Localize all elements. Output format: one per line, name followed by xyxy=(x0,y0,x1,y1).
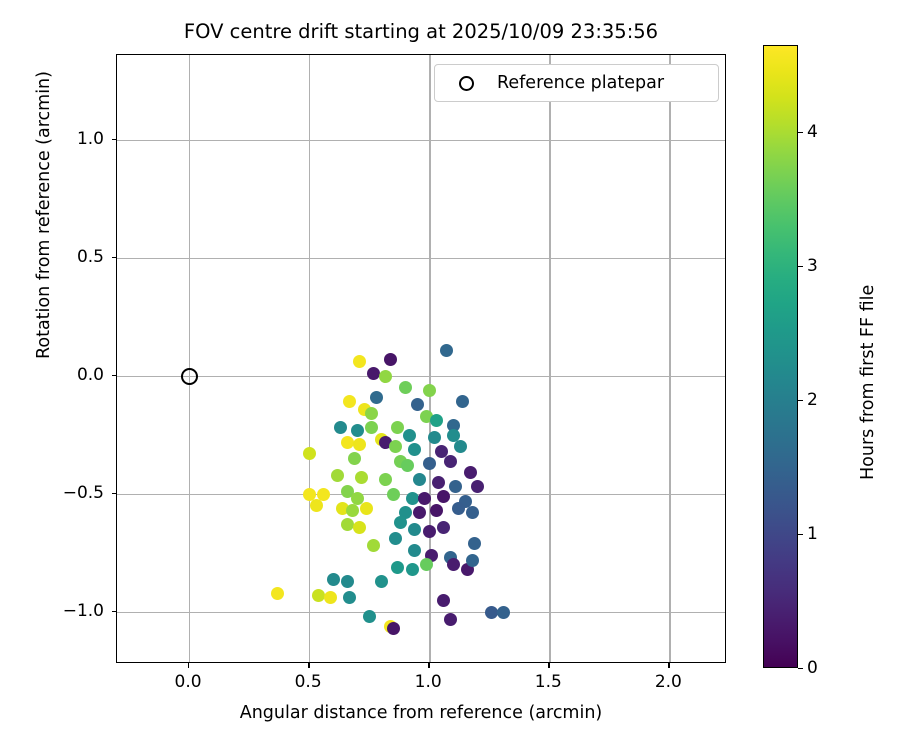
scatter-point xyxy=(351,424,364,437)
y-tick-mark-0 xyxy=(112,611,117,612)
x-axis-label: Angular distance from reference (arcmin) xyxy=(116,703,726,723)
gridline-vertical-0 xyxy=(189,55,190,662)
scatter-point xyxy=(401,459,414,472)
colorbar-tick-mark-1 xyxy=(798,534,803,535)
scatter-point xyxy=(454,440,467,453)
scatter-point xyxy=(387,488,400,501)
scatter-point xyxy=(437,521,450,534)
scatter-point xyxy=(346,504,359,517)
scatter-point xyxy=(271,587,284,600)
scatter-point xyxy=(430,504,443,517)
scatter-point xyxy=(341,436,354,449)
y-tick-mark-4 xyxy=(112,139,117,140)
scatter-point xyxy=(334,421,347,434)
scatter-point xyxy=(411,398,424,411)
scatter-point xyxy=(355,471,368,484)
x-tick-label-3: 1.5 xyxy=(535,672,562,692)
colorbar-tick-label-0: 0 xyxy=(807,658,818,678)
scatter-point xyxy=(423,525,436,538)
scatter-point xyxy=(375,575,388,588)
scatter-point xyxy=(406,563,419,576)
scatter-point xyxy=(444,613,457,626)
y-axis-label: Rotation from reference (arcmin) xyxy=(34,71,54,359)
y-tick-mark-1 xyxy=(112,493,117,494)
scatter-point xyxy=(468,537,481,550)
scatter-point xyxy=(365,421,378,434)
scatter-point xyxy=(423,457,436,470)
scatter-point xyxy=(348,452,361,465)
x-tick-label-1: 0.5 xyxy=(295,672,322,692)
y-tick-label-3: 0.5 xyxy=(77,247,104,267)
y-tick-label-0: −1.0 xyxy=(63,601,104,621)
y-tick-label-4: 1.0 xyxy=(77,129,104,149)
colorbar-tick-mark-0 xyxy=(798,668,803,669)
scatter-plot-axes xyxy=(116,54,726,663)
scatter-point xyxy=(389,440,402,453)
scatter-point xyxy=(387,622,400,635)
scatter-point xyxy=(403,429,416,442)
y-tick-mark-3 xyxy=(112,257,117,258)
scatter-point xyxy=(452,502,465,515)
scatter-point xyxy=(343,395,356,408)
scatter-point xyxy=(466,554,479,567)
gridline-horizontal-3 xyxy=(117,258,725,259)
colorbar xyxy=(763,45,798,668)
legend[interactable]: Reference platepar xyxy=(434,64,719,102)
colorbar-tick-mark-4 xyxy=(798,132,803,133)
colorbar-tick-mark-3 xyxy=(798,266,803,267)
scatter-point xyxy=(303,447,316,460)
scatter-point xyxy=(444,455,457,468)
scatter-point xyxy=(353,521,366,534)
scatter-point xyxy=(437,594,450,607)
open-circle-icon xyxy=(459,76,474,91)
scatter-point xyxy=(449,480,462,493)
scatter-point xyxy=(331,469,344,482)
scatter-point xyxy=(343,591,356,604)
x-tick-label-4: 2.0 xyxy=(655,672,682,692)
colorbar-tick-label-3: 3 xyxy=(807,256,818,276)
figure-canvas: FOV centre drift starting at 2025/10/09 … xyxy=(0,0,900,750)
scatter-point xyxy=(394,516,407,529)
scatter-point xyxy=(408,544,421,557)
scatter-point xyxy=(406,492,419,505)
scatter-point xyxy=(471,480,484,493)
gridline-horizontal-4 xyxy=(117,140,725,141)
scatter-point xyxy=(430,414,443,427)
legend-marker-wrap xyxy=(435,76,497,91)
x-tick-mark-4 xyxy=(668,663,669,668)
x-tick-mark-0 xyxy=(188,663,189,668)
scatter-point xyxy=(456,395,469,408)
scatter-point xyxy=(428,431,441,444)
scatter-point xyxy=(432,476,445,489)
gridline-vertical-1 xyxy=(309,55,310,662)
y-tick-mark-2 xyxy=(112,375,117,376)
colorbar-tick-mark-2 xyxy=(798,400,803,401)
gridline-horizontal-0 xyxy=(117,612,725,613)
scatter-point xyxy=(379,473,392,486)
scatter-point xyxy=(341,575,354,588)
scatter-point xyxy=(399,381,412,394)
scatter-point xyxy=(370,391,383,404)
colorbar-tick-label-4: 4 xyxy=(807,122,818,142)
x-tick-mark-1 xyxy=(308,663,309,668)
scatter-point xyxy=(327,573,340,586)
scatter-point xyxy=(466,506,479,519)
scatter-point xyxy=(310,499,323,512)
x-tick-label-2: 1.0 xyxy=(415,672,442,692)
scatter-point xyxy=(367,539,380,552)
x-tick-mark-2 xyxy=(428,663,429,668)
gridline-vertical-4 xyxy=(669,55,670,662)
scatter-point xyxy=(447,558,460,571)
scatter-point xyxy=(384,353,397,366)
scatter-point xyxy=(497,606,510,619)
scatter-point xyxy=(413,473,426,486)
scatter-point xyxy=(363,610,376,623)
scatter-point xyxy=(389,532,402,545)
page-title: FOV centre drift starting at 2025/10/09 … xyxy=(0,20,842,43)
legend-label: Reference platepar xyxy=(497,73,664,93)
scatter-point xyxy=(341,518,354,531)
colorbar-tick-label-2: 2 xyxy=(807,390,818,410)
x-tick-label-0: 0.0 xyxy=(175,672,202,692)
reference-platepar-marker xyxy=(181,368,198,385)
scatter-point xyxy=(440,344,453,357)
scatter-point xyxy=(423,384,436,397)
scatter-point xyxy=(360,502,373,515)
scatter-point xyxy=(353,438,366,451)
scatter-point xyxy=(464,466,477,479)
scatter-point xyxy=(413,506,426,519)
scatter-point xyxy=(353,355,366,368)
scatter-point xyxy=(365,407,378,420)
x-tick-mark-3 xyxy=(548,663,549,668)
scatter-point xyxy=(408,523,421,536)
y-tick-label-2: 0.0 xyxy=(77,365,104,385)
scatter-point xyxy=(408,443,421,456)
gridline-vertical-2 xyxy=(429,55,430,662)
scatter-point xyxy=(391,561,404,574)
colorbar-tick-label-1: 1 xyxy=(807,524,818,544)
scatter-point xyxy=(437,490,450,503)
gridline-horizontal-2 xyxy=(117,376,725,377)
y-tick-label-1: −0.5 xyxy=(63,483,104,503)
scatter-point xyxy=(420,558,433,571)
scatter-point xyxy=(379,370,392,383)
colorbar-label: Hours from first FF file xyxy=(858,285,878,480)
gridline-vertical-3 xyxy=(549,55,550,662)
scatter-point xyxy=(324,591,337,604)
